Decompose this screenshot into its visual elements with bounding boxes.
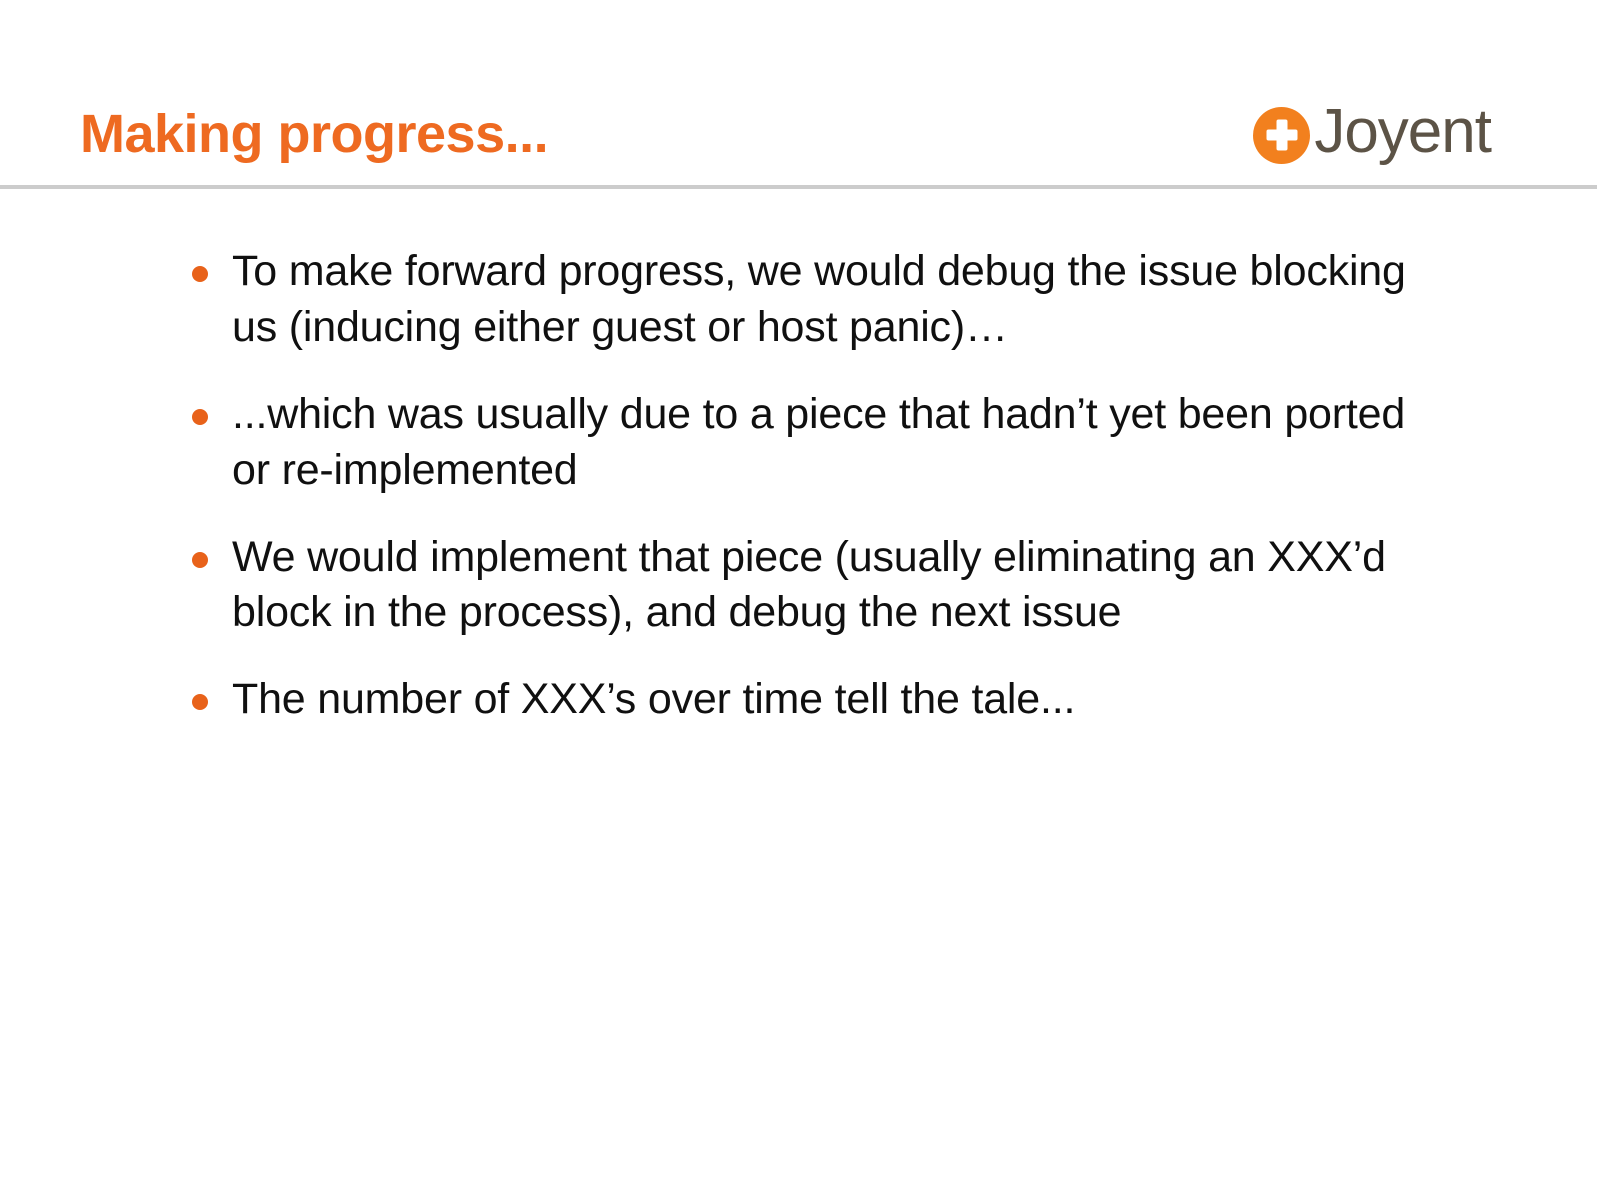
list-item: To make forward progress, we would debug… <box>185 244 1445 356</box>
bullet-text: ...which was usually due to a piece that… <box>232 387 1445 499</box>
bullet-text: To make forward progress, we would debug… <box>232 244 1445 356</box>
bullet-dot-icon <box>192 409 208 425</box>
brand-wordmark: Joyent <box>1314 101 1491 163</box>
bullet-text: The number of XXX’s over time tell the t… <box>232 672 1445 728</box>
list-item: ...which was usually due to a piece that… <box>185 387 1445 499</box>
page-title: Making progress... <box>80 107 548 161</box>
bullet-dot-icon <box>192 266 208 282</box>
bullet-dot-icon <box>192 694 208 710</box>
slide-body: To make forward progress, we would debug… <box>0 187 1597 1198</box>
plus-in-circle-icon <box>1253 107 1310 164</box>
bullet-dot-icon <box>192 552 208 568</box>
list-item: We would implement that piece (usually e… <box>185 530 1445 642</box>
bullet-list: To make forward progress, we would debug… <box>185 244 1445 728</box>
slide-header: Making progress... Joyent <box>0 0 1597 187</box>
joyent-logo: Joyent <box>1253 104 1491 166</box>
bullet-text: We would implement that piece (usually e… <box>232 530 1445 642</box>
presentation-slide: Making progress... Joyent To make forwar… <box>0 0 1597 1198</box>
list-item: The number of XXX’s over time tell the t… <box>185 672 1445 728</box>
